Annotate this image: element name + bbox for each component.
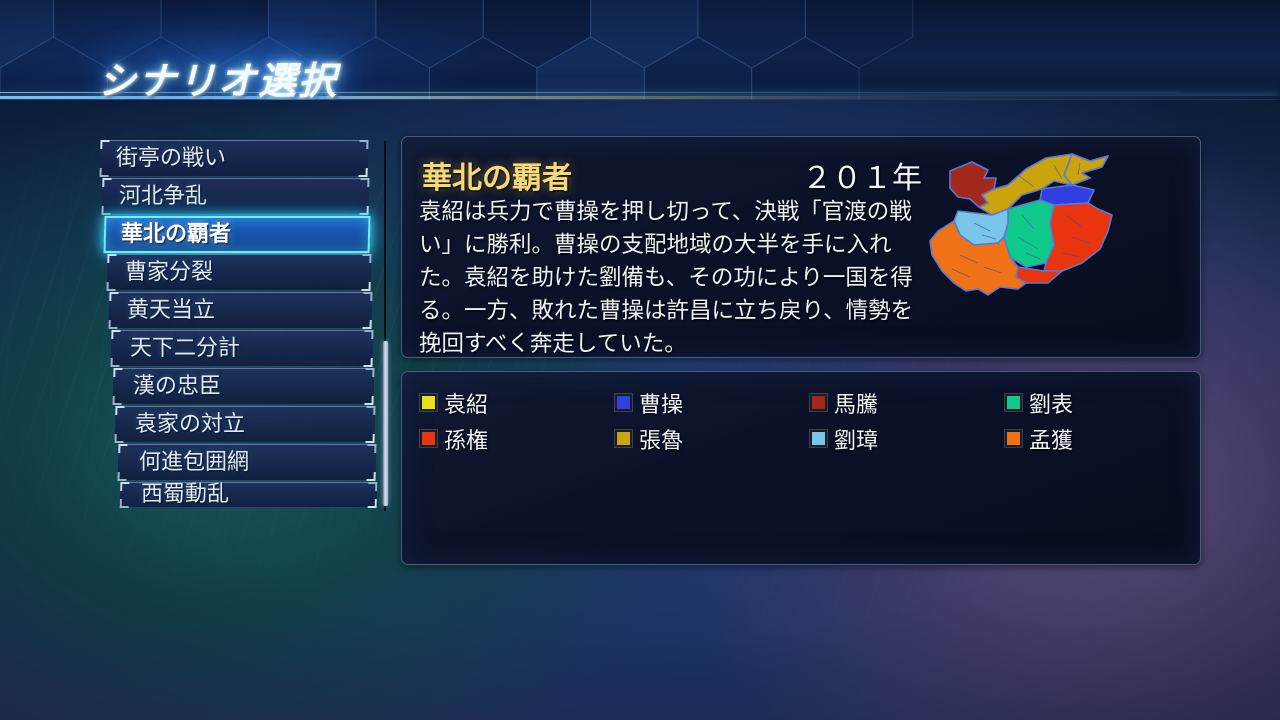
scenario-list-item[interactable]: 黄天当立 — [108, 292, 372, 329]
faction-legend-item: 劉表 — [1005, 388, 1200, 417]
scenario-item-label: 華北の覇者 — [122, 224, 232, 246]
faction-legend-item: 曹操 — [615, 388, 810, 417]
scenario-detail-panel: 華北の覇者 ２０１年 袁紹は兵力で曹操を押し切って、決戦「官渡の戦い」に勝利。曹… — [401, 136, 1201, 358]
faction-color-swatch — [615, 394, 632, 411]
scenario-item-label: 黄天当立 — [127, 300, 215, 322]
scenario-list-item[interactable]: 何進包囲網 — [117, 444, 376, 481]
scenario-item-label: 西蜀動乱 — [141, 484, 229, 506]
scenario-list-scrollbar[interactable] — [383, 141, 388, 511]
scenario-list-item[interactable]: 漢の忠臣 — [113, 368, 375, 405]
faction-color-swatch — [1005, 430, 1022, 447]
scenario-item-label: 漢の忠臣 — [133, 376, 221, 398]
header-bar: シナリオ選択 — [0, 0, 1280, 100]
faction-legend-item: 張魯 — [615, 424, 810, 453]
faction-name-label: 袁紹 — [444, 387, 488, 419]
faction-legend-panel: 袁紹曹操馬騰劉表孫権張魯劉璋孟獲 — [401, 371, 1201, 565]
scenario-list-item[interactable]: 天下二分計 — [110, 330, 373, 367]
faction-name-label: 劉璋 — [834, 423, 878, 455]
scrollbar-thumb[interactable] — [383, 341, 388, 506]
faction-legend-item: 孟獲 — [1005, 424, 1200, 453]
scenario-detail-description: 袁紹は兵力で曹操を押し切って、決戦「官渡の戦い」に勝利。曹操の支配地域の大半を手… — [419, 196, 914, 361]
faction-name-label: 張魯 — [639, 423, 683, 455]
scenario-item-label: 曹家分裂 — [124, 262, 212, 284]
scenario-item-label: 河北争乱 — [119, 186, 207, 208]
faction-name-label: 孫権 — [444, 423, 488, 455]
scenario-item-label: 天下二分計 — [130, 338, 240, 360]
faction-legend-grid: 袁紹曹操馬騰劉表孫権張魯劉璋孟獲 — [420, 388, 1182, 453]
scenario-list-item[interactable]: 華北の覇者 — [104, 216, 371, 253]
scenario-detail-year: ２０１年 — [782, 153, 922, 197]
faction-name-label: 馬騰 — [834, 387, 878, 419]
faction-legend-item: 馬騰 — [810, 388, 1005, 417]
bottom-action-bar: Esc戻る↵決定 — [0, 600, 1280, 720]
scenario-item-label: 街亭の戦い — [116, 148, 226, 170]
faction-legend-item: 孫権 — [420, 424, 615, 453]
faction-color-swatch — [810, 394, 827, 411]
scenario-item-label: 何進包囲網 — [138, 452, 248, 474]
scenario-list-item[interactable]: 西蜀動乱 — [119, 482, 377, 508]
faction-legend-item: 劉璋 — [810, 424, 1005, 453]
faction-name-label: 劉表 — [1029, 387, 1073, 419]
scenario-list-item[interactable]: 街亭の戦い — [99, 140, 368, 177]
faction-color-swatch — [1005, 394, 1022, 411]
faction-name-label: 曹操 — [639, 387, 683, 419]
page-title: シナリオ選択 — [98, 50, 338, 100]
faction-legend-item: 袁紹 — [420, 388, 615, 417]
faction-color-swatch — [810, 430, 827, 447]
scenario-list-item[interactable]: 河北争乱 — [102, 178, 370, 215]
faction-color-swatch — [420, 430, 437, 447]
scenario-list-item[interactable]: 袁家の対立 — [115, 406, 376, 443]
scenario-list-item[interactable]: 曹家分裂 — [106, 254, 371, 291]
scenario-detail-title: 華北の覇者 — [422, 153, 572, 197]
faction-color-swatch — [420, 394, 437, 411]
china-territory-map-icon — [922, 145, 1194, 351]
faction-color-swatch — [615, 430, 632, 447]
scenario-item-label: 袁家の対立 — [136, 414, 246, 436]
scenario-list[interactable]: 街亭の戦い河北争乱華北の覇者曹家分裂黄天当立天下二分計漢の忠臣袁家の対立何進包囲… — [100, 140, 376, 515]
faction-name-label: 孟獲 — [1029, 423, 1073, 455]
